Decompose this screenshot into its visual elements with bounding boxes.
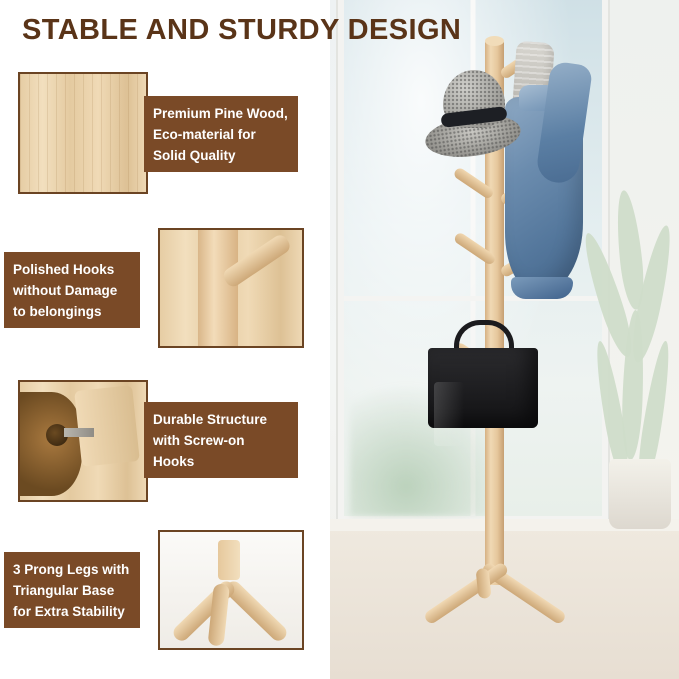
polished-hook-closeup-photo xyxy=(158,228,304,348)
handbag-highlight xyxy=(434,382,464,446)
straw-hat xyxy=(425,70,521,162)
jacket-sleeve xyxy=(535,61,593,186)
tripod-base-closeup-photo xyxy=(158,530,304,650)
callout-label-durable-structure: Durable Structure with Screw-on Hooks xyxy=(144,402,298,478)
screw-on-hook-closeup-photo xyxy=(18,380,148,502)
screw-thread xyxy=(64,428,94,437)
pole-bottom-closeup xyxy=(218,540,240,580)
tripod-base xyxy=(414,560,574,660)
coat-rack-pole-cap xyxy=(485,36,504,46)
wood-texture xyxy=(20,74,146,192)
callout-label-three-prong-legs: 3 Prong Legs with Triangular Base for Ex… xyxy=(4,552,140,628)
callout-label-premium-pine-wood: Premium Pine Wood, Eco-material for Soli… xyxy=(144,96,298,172)
page-title: STABLE AND STURDY DESIGN xyxy=(22,14,461,47)
rack-pole-closeup xyxy=(198,228,238,348)
pine-wood-closeup-photo xyxy=(18,72,148,194)
coat-rack-photo xyxy=(330,0,679,679)
base-leg xyxy=(423,561,510,625)
hook-piece-closeup xyxy=(74,385,140,467)
callout-label-polished-hooks: Polished Hooks without Damage to belongi… xyxy=(4,252,140,328)
product-infographic: STABLE AND STURDY DESIGN Premium Pine Wo… xyxy=(0,0,679,679)
handbag-body xyxy=(428,348,538,428)
plant-pot xyxy=(609,459,671,529)
jacket-hem xyxy=(511,277,573,299)
black-handbag xyxy=(428,320,538,430)
